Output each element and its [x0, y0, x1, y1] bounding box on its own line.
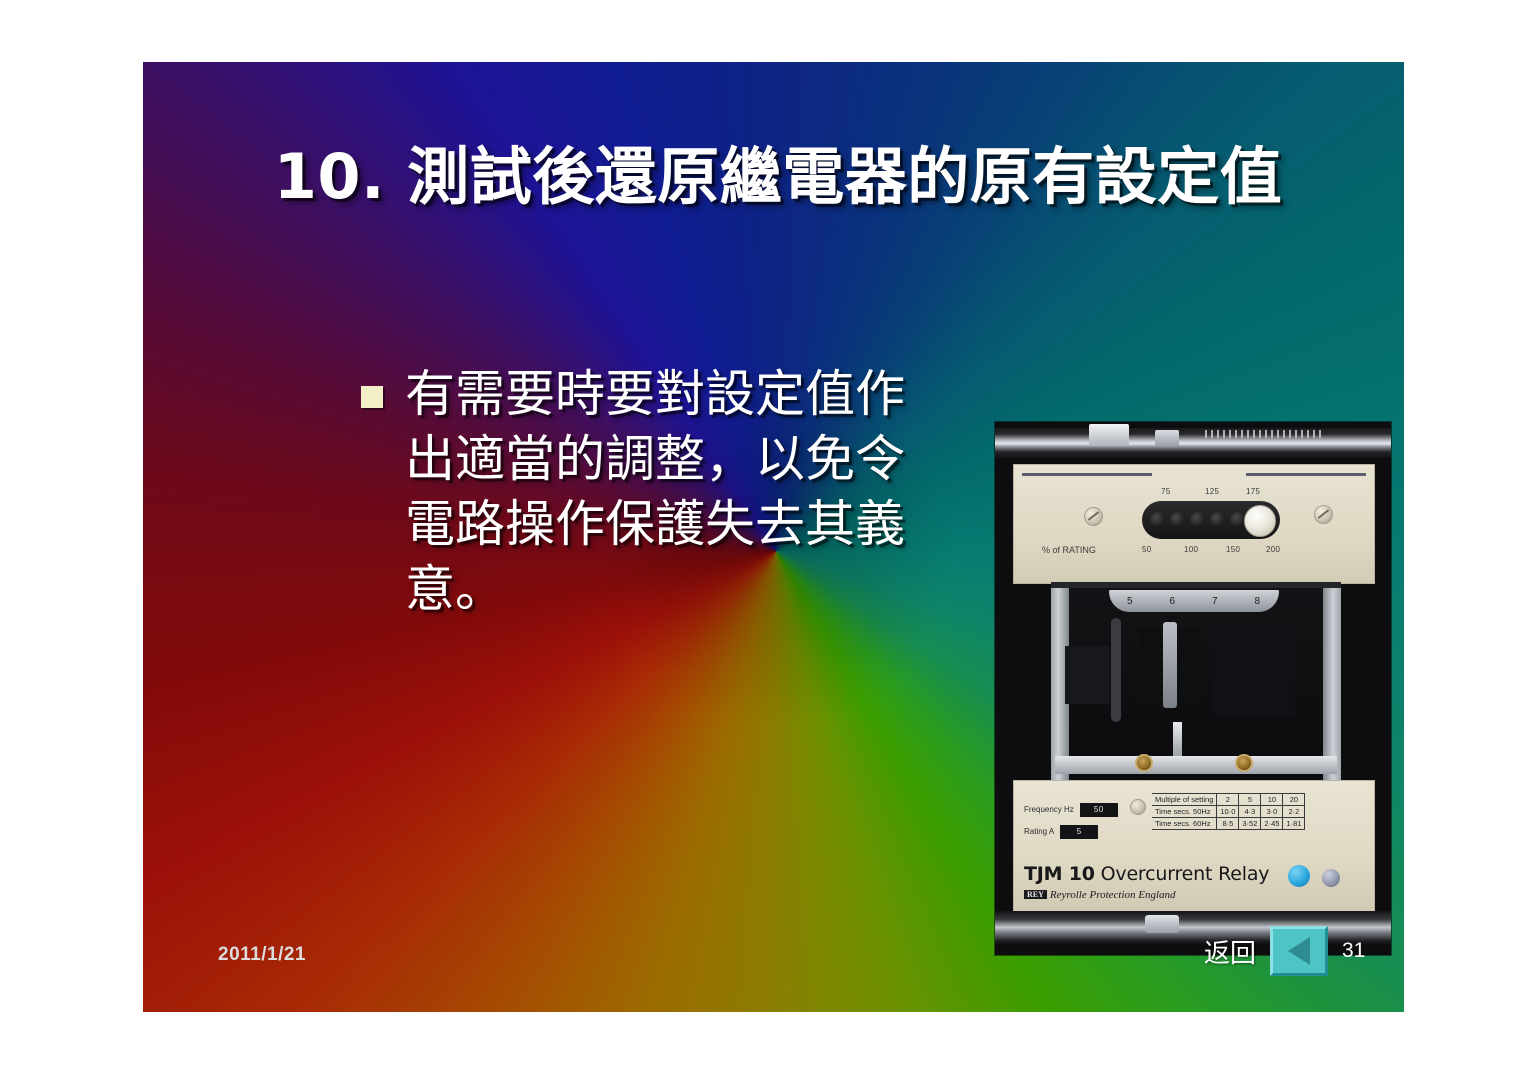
- relay-model: TJM 10: [1024, 863, 1095, 885]
- photo-top-rail: [995, 428, 1391, 458]
- spec-cell: 3·0: [1261, 806, 1283, 818]
- bullet-list: 有需要時要對設定值作出適當的調整，以免令電路操作保護失去其義意。: [361, 362, 961, 622]
- mechanism-block: [1065, 646, 1109, 704]
- relay-field-row: Frequency Hz 50: [1024, 799, 1118, 821]
- relay-mechanism-window: 5 6 7 8: [1051, 582, 1341, 788]
- spec-cell: 10: [1261, 794, 1283, 806]
- top-scale-marks: [1205, 430, 1325, 438]
- footer-date: 2011/1/21: [218, 944, 306, 966]
- top-clip-left-icon: [1089, 424, 1129, 446]
- relay-maker: Reyrolle Protection England: [1050, 889, 1176, 901]
- relay-field-row: Rating A 5: [1024, 821, 1118, 843]
- back-label: 返回: [1204, 933, 1256, 970]
- relay-photograph: 75 125 175 % of RATING 50 100 150 200: [995, 422, 1391, 955]
- bottom-knob-icon: [1145, 915, 1179, 933]
- plug-hole: [1190, 512, 1205, 528]
- spec-cell: 5: [1239, 794, 1261, 806]
- frequency-label: Frequency Hz: [1024, 799, 1074, 821]
- plug-hole: [1170, 512, 1185, 528]
- plug-tick-175: 175: [1246, 487, 1260, 496]
- plug-hole: [1150, 512, 1165, 528]
- spec-cell: 10·0: [1217, 806, 1239, 818]
- screw-icon-label: [1130, 799, 1146, 815]
- table-row: Multiple of setting 2 5 10 20: [1152, 794, 1305, 806]
- blue-seal-icon: [1288, 865, 1310, 887]
- relay-maker-line: REYReyrolle Protection England: [1024, 889, 1176, 901]
- faceplate-hairline-left: [1022, 473, 1152, 476]
- screw-icon-left: [1084, 507, 1103, 526]
- plug-tick-50: 50: [1142, 545, 1152, 554]
- relay-field-list: Frequency Hz 50 Rating A 5: [1024, 799, 1118, 843]
- plug-tick-150: 150: [1226, 545, 1240, 554]
- mechanism-shelf: [1055, 756, 1337, 774]
- presentation-slide: 10. 測試後還原繼電器的原有設定值 有需要時要對設定值作出適當的調整，以免令電…: [143, 62, 1404, 1012]
- dial-number: 7: [1212, 596, 1219, 607]
- plug-setting-bar: [1142, 501, 1280, 539]
- relay-spec-table: Multiple of setting 2 5 10 20 Time secs.…: [1152, 793, 1305, 830]
- table-row: Time secs. 50Hz 10·0 4·3 3·0 2·2: [1152, 806, 1305, 818]
- terminal-icon-left: [1135, 754, 1153, 772]
- page-title: 10. 測試後還原繼電器的原有設定值: [203, 144, 1353, 211]
- plug-tick-200: 200: [1266, 545, 1280, 554]
- dial-number: 6: [1169, 596, 1176, 607]
- induction-disc-spindle: [1163, 622, 1177, 708]
- footer-navigation: 返回 31: [1204, 926, 1366, 976]
- gray-seal-icon: [1322, 869, 1340, 887]
- faceplate-hairline-right: [1246, 473, 1366, 476]
- slide-page: 10. 測試後還原繼電器的原有設定值 有需要時要對設定值作出適當的調整，以免令電…: [0, 0, 1528, 1080]
- time-multiplier-dial: 5 6 7 8: [1109, 590, 1279, 612]
- terminal-icon-right: [1235, 754, 1253, 772]
- spec-row-header: Time secs. 60Hz: [1152, 818, 1217, 830]
- relay-brand-line: TJM 10 Overcurrent Relay: [1024, 863, 1269, 885]
- mechanism-arm: [1111, 618, 1121, 722]
- screw-icon-right: [1314, 505, 1333, 524]
- spec-cell: 2·2: [1283, 806, 1305, 818]
- mechanism-pin: [1173, 722, 1182, 756]
- spec-cell: 8·5: [1217, 818, 1239, 830]
- plug-hole: [1230, 512, 1245, 528]
- spec-cell: 2: [1217, 794, 1239, 806]
- maker-badge-icon: REY: [1024, 890, 1047, 899]
- page-number: 31: [1342, 939, 1366, 963]
- dial-number: 5: [1127, 596, 1134, 607]
- plug-tick-100: 100: [1184, 545, 1198, 554]
- rating-label: Rating A: [1024, 821, 1054, 843]
- spec-row-header: Multiple of setting: [1152, 794, 1217, 806]
- rating-value: 5: [1060, 825, 1098, 839]
- bullet-square-icon: [361, 386, 383, 408]
- mechanism-block: [1213, 624, 1295, 716]
- plug-hole: [1210, 512, 1225, 528]
- relay-faceplate-label: Frequency Hz 50 Rating A 5 Multiple of s…: [1013, 780, 1375, 914]
- table-row: Time secs. 60Hz 8·5 3·52 2·45 1·81: [1152, 818, 1305, 830]
- frequency-value: 50: [1080, 803, 1118, 817]
- spec-row-header: Time secs. 50Hz: [1152, 806, 1217, 818]
- bullet-item-text: 有需要時要對設定值作出適當的調整，以免令電路操作保護失去其義意。: [405, 362, 925, 622]
- spec-cell: 1·81: [1283, 818, 1305, 830]
- plug-tick-75: 75: [1161, 487, 1171, 496]
- relay-faceplate-top: 75 125 175 % of RATING 50 100 150 200: [1013, 464, 1375, 584]
- triangle-left-icon: [1288, 937, 1310, 965]
- dial-number: 8: [1254, 596, 1261, 607]
- plug-tick-125: 125: [1205, 487, 1219, 496]
- spec-cell: 3·52: [1239, 818, 1261, 830]
- spec-cell: 4·3: [1239, 806, 1261, 818]
- back-button[interactable]: [1270, 926, 1328, 976]
- relay-product-name: Overcurrent Relay: [1101, 863, 1270, 885]
- plug-pin-icon: [1244, 505, 1276, 537]
- top-clip-right-icon: [1155, 430, 1179, 446]
- percent-of-rating-label: % of RATING: [1042, 545, 1096, 555]
- spec-cell: 2·45: [1261, 818, 1283, 830]
- spec-cell: 20: [1283, 794, 1305, 806]
